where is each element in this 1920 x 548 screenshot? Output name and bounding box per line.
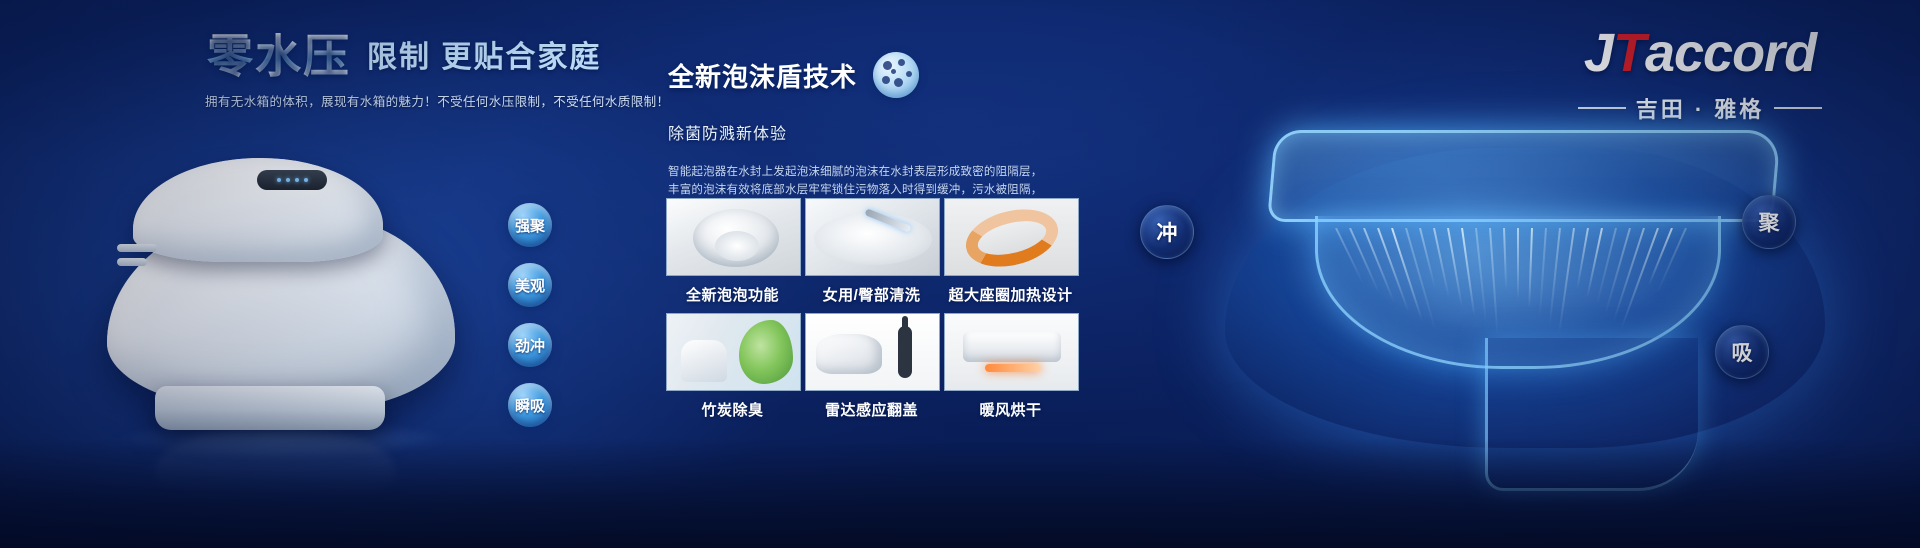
feature-card-4[interactable]: 雷达感应翻盖 (805, 313, 938, 420)
body-line-0: 智能起泡器在水封上发起泡沫细腻的泡沫在水封表层形成致密的阻隔层， (668, 164, 1088, 182)
feature-caption-0: 全新泡泡功能 (666, 284, 799, 305)
center-title-row: 全新泡沫盾技术 (668, 52, 1088, 98)
headline-note: 拥有无水箱的体积，展现有水箱的魅力！不受任何水压限制，不受任何水质限制！ (205, 91, 685, 110)
diagram-badge-chong[interactable]: 冲 (1140, 205, 1194, 259)
panel-indicator-dots (257, 170, 327, 190)
radar-sensor-lid-photo (805, 313, 940, 391)
feature-pill-0[interactable]: 强聚 (508, 203, 552, 247)
logo-rule-right (1774, 107, 1822, 109)
warm-air-dryer-photo (944, 313, 1079, 391)
product-reflection (155, 428, 395, 498)
feature-thumbnail-grid: 全新泡泡功能 女用/臀部清洗 超大座圈加热设计 竹炭除臭 雷达感应翻盖 暖风烘干 (666, 198, 1077, 420)
feature-pill-list: 强聚 美观 劲冲 瞬吸 (508, 203, 552, 427)
feature-caption-3: 竹炭除臭 (666, 399, 799, 420)
logo-letter-t: T (1613, 26, 1645, 80)
body-line-1: 丰富的泡沫有效将底部水层牢牢锁住污物落入时得到缓冲，污水被阻隔， (668, 182, 1088, 200)
toilet-base (155, 386, 385, 430)
diagram-badge-ju[interactable]: 聚 (1742, 195, 1796, 249)
side-button-top (117, 244, 157, 252)
feature-caption-2: 超大座圈加热设计 (944, 284, 1077, 305)
promo-banner: 零水压 限制 更贴合家庭 拥有无水箱的体积，展现有水箱的魅力！不受任何水压限制，… (0, 0, 1920, 548)
brand-logo: JTaccord 吉田 · 雅格 (1550, 26, 1850, 124)
spray-nozzle-photo (805, 198, 940, 276)
xray-trapway-outline (1485, 338, 1698, 491)
headline-sub: 限制 更贴合家庭 (367, 41, 601, 79)
feature-caption-5: 暖风烘干 (944, 399, 1077, 420)
center-text-block: 全新泡沫盾技术 除菌防溅新体验 智能起泡器在水封上发起泡沫细腻的泡沫在水封表层形… (668, 52, 1088, 217)
headline-main: 零水压 (205, 33, 353, 79)
foam-bubbles-icon (873, 52, 919, 98)
feature-caption-1: 女用/臀部清洗 (805, 284, 938, 305)
bowl-foam-photo (666, 198, 801, 276)
headline-row: 零水压 限制 更贴合家庭 (205, 33, 685, 79)
xray-flush-cutaway (1185, 120, 1875, 510)
center-title: 全新泡沫盾技术 (668, 57, 857, 94)
feature-card-0[interactable]: 全新泡泡功能 (666, 198, 799, 305)
smart-toilet-product-photo (95, 128, 475, 428)
feature-card-5[interactable]: 暖风烘干 (944, 313, 1077, 420)
diagram-badge-xi[interactable]: 吸 (1715, 325, 1769, 379)
logo-word-accord: accord (1645, 26, 1816, 80)
feature-pill-2[interactable]: 劲冲 (508, 323, 552, 367)
bamboo-charcoal-deodor-photo (666, 313, 801, 391)
feature-card-3[interactable]: 竹炭除臭 (666, 313, 799, 420)
center-subtitle: 除菌防溅新体验 (668, 120, 1088, 144)
feature-caption-4: 雷达感应翻盖 (805, 399, 938, 420)
left-headline-block: 零水压 限制 更贴合家庭 拥有无水箱的体积，展现有水箱的魅力！不受任何水压限制，… (205, 33, 685, 110)
feature-pill-3[interactable]: 瞬吸 (508, 383, 552, 427)
logo-rule-left (1578, 107, 1626, 109)
xray-water-jets (1335, 228, 1695, 336)
feature-pill-1[interactable]: 美观 (508, 263, 552, 307)
heated-seat-ring-photo (944, 198, 1079, 276)
side-button-bottom (117, 258, 147, 266)
feature-card-1[interactable]: 女用/臀部清洗 (805, 198, 938, 305)
logo-wordmark: JTaccord (1550, 26, 1850, 80)
logo-letter-j: J (1584, 26, 1613, 80)
xray-lid-outline (1267, 130, 1781, 222)
control-panel-icon (257, 170, 327, 190)
feature-card-2[interactable]: 超大座圈加热设计 (944, 198, 1077, 305)
